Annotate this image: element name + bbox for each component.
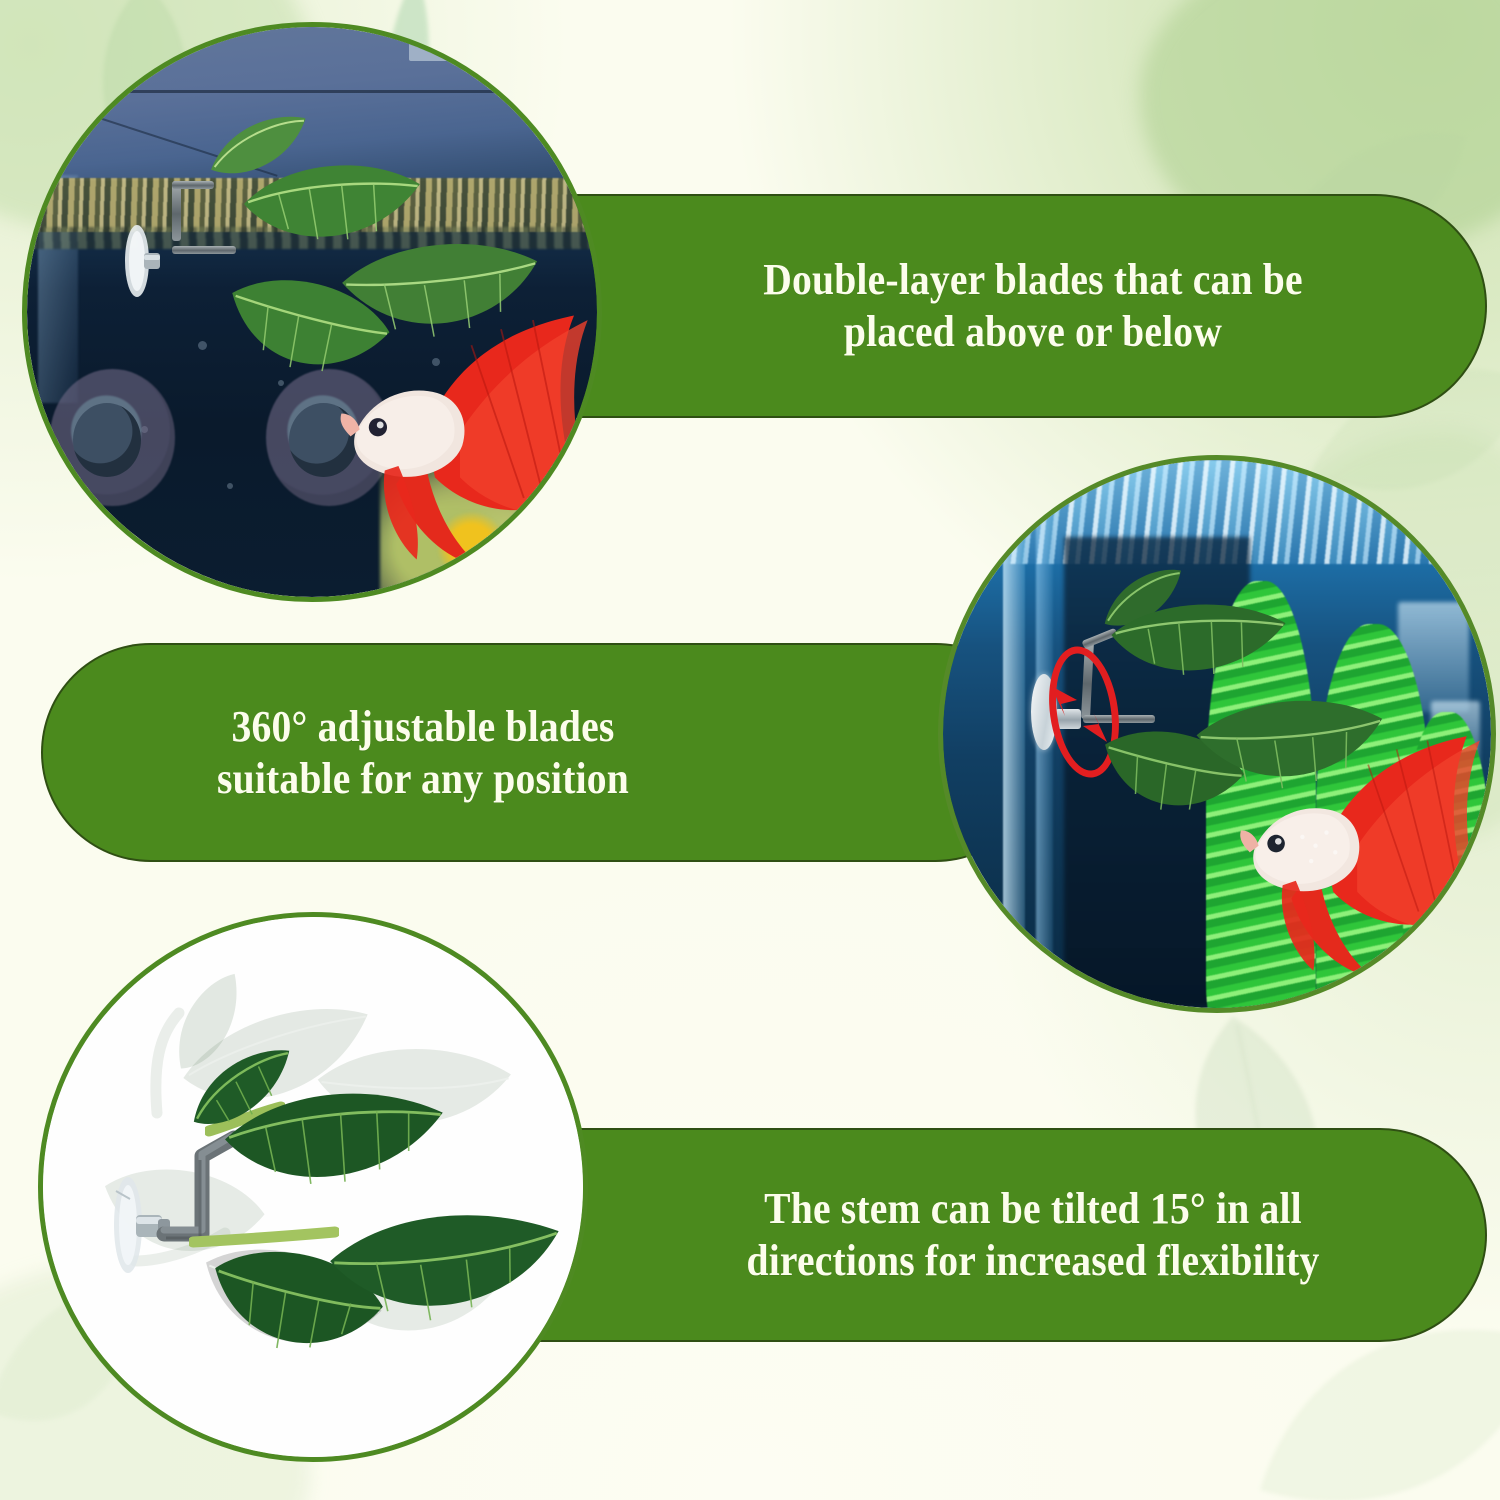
product-stem-horizontal-lower-c1 — [172, 246, 236, 254]
feature-3-photo — [43, 917, 583, 1457]
product-stem-vertical-c1 — [172, 181, 181, 241]
feature-1-banner-line2: placed above or below — [682, 306, 1384, 358]
feature-2-photo — [943, 460, 1491, 1008]
bubble — [227, 483, 233, 489]
product-leaf-lower-right-c1 — [337, 225, 545, 359]
feature-3-photo-circle — [38, 912, 588, 1462]
feature-2-banner: 360° adjustable blades suitable for any … — [43, 645, 1043, 860]
feature-2-photo-circle — [938, 455, 1496, 1013]
product-leaf-lower-right-c2 — [1193, 687, 1387, 806]
tank-glass-edge-left-2 — [1036, 504, 1052, 1008]
feature-2-banner-text: 360° adjustable blades suitable for any … — [108, 701, 738, 805]
tank-lid-seam — [27, 90, 597, 93]
feature-1-photo — [27, 27, 597, 597]
feature-2-banner-line1: 360° adjustable blades — [108, 701, 738, 753]
tank-glass-edge-left — [1003, 504, 1025, 1008]
product-suction-cup-c1 — [124, 221, 166, 301]
product-leaf-top-large — [218, 1073, 449, 1213]
bubble — [198, 341, 207, 350]
product-stem-horizontal-upper-c1 — [172, 181, 214, 189]
feature-3-banner-line1: The stem can be tilted 15° in all — [659, 1183, 1406, 1235]
feature-3-banner-text: The stem can be tilted 15° in all direct… — [659, 1183, 1406, 1287]
product-leaf-upper-large-c2 — [1103, 582, 1293, 702]
infographic-canvas: Double-layer blades that can be placed a… — [0, 0, 1500, 1500]
product-leaf-bottom-right — [325, 1195, 569, 1343]
feature-3-banner-line2: directions for increased flexibility — [659, 1235, 1406, 1287]
feature-1-banner-line1: Double-layer blades that can be — [682, 254, 1384, 306]
feature-1-photo-circle — [22, 22, 602, 602]
feature-1-banner-text: Double-layer blades that can be placed a… — [682, 254, 1384, 358]
tank-lid-notch — [409, 36, 472, 62]
feature-2-banner-line2: suitable for any position — [108, 753, 738, 805]
filter-hub-left — [73, 403, 141, 477]
